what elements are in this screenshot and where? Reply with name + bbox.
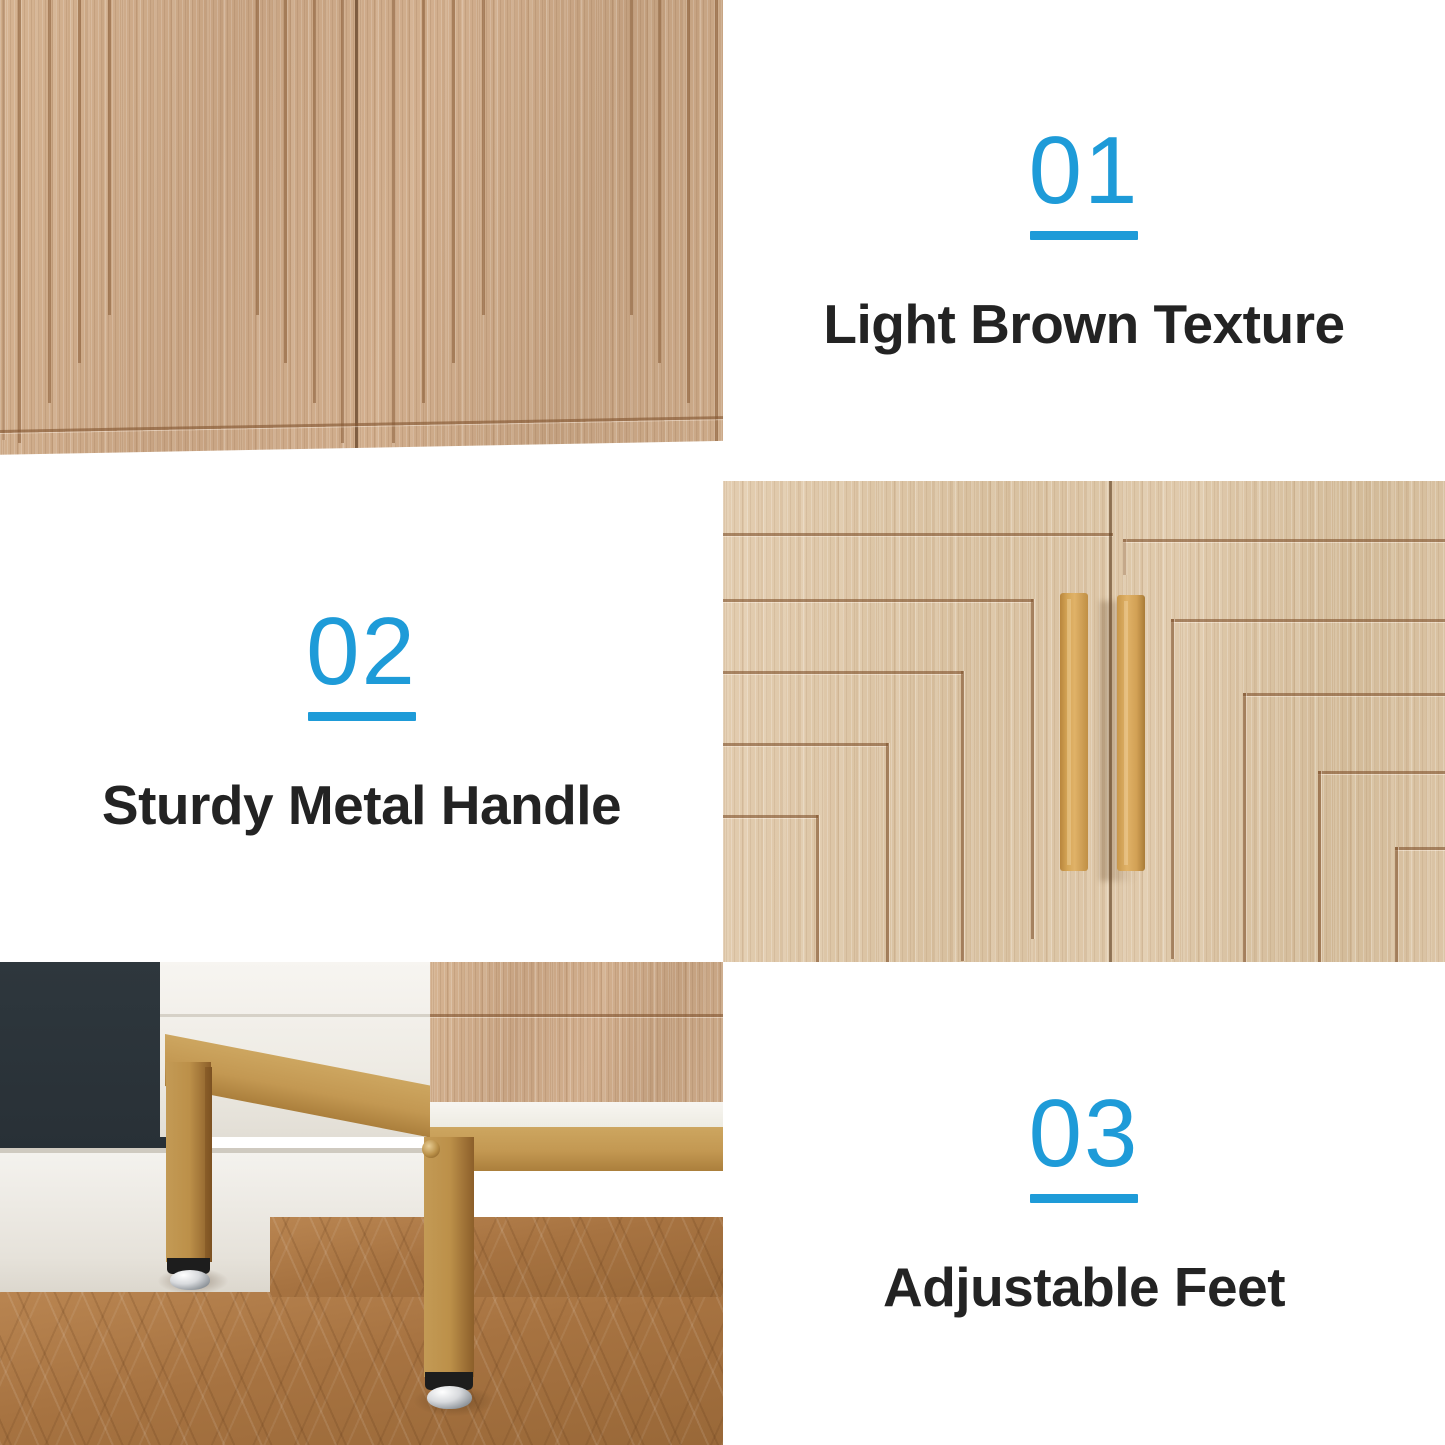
feature-title-01: Light Brown Texture [823, 292, 1344, 356]
adjustable-foot-rear[interactable] [170, 1270, 210, 1290]
feature-number-01: 01 [1029, 125, 1140, 216]
plank-line-1 [2, 0, 5, 440]
baseboard-top-edge [0, 1148, 430, 1153]
feature-number-block-03: 03 [1029, 1088, 1140, 1202]
groove-right-v4 [1318, 771, 1321, 962]
feature-photo-adjustable-feet [0, 962, 723, 1445]
adjustable-foot-front[interactable] [427, 1386, 472, 1409]
groove-right-v1 [1123, 539, 1126, 575]
feature-title-02: Sturdy Metal Handle [102, 773, 621, 837]
feature-number-underline-01 [1030, 231, 1138, 240]
groove-left-h2 [723, 599, 1033, 602]
feature-number-block-02: 02 [306, 606, 417, 720]
groove-right-h1 [1123, 539, 1445, 542]
feature-text-03: 03 Adjustable Feet [723, 962, 1445, 1445]
groove-left-v2 [1031, 599, 1034, 939]
groove-right-h3 [1243, 693, 1445, 696]
feature-number-underline-02 [308, 712, 416, 721]
door-center-seam [355, 0, 358, 455]
groove-left-v4 [886, 743, 889, 962]
groove-left-v3 [961, 671, 964, 961]
gold-handle-left[interactable] [1060, 593, 1088, 871]
groove-left-h4 [723, 743, 888, 746]
gold-leg-rear-shade [205, 1067, 212, 1262]
feature-title-03: Adjustable Feet [883, 1255, 1285, 1319]
door-groove-ring-core-left [108, 0, 259, 315]
groove-right-v5 [1395, 847, 1398, 962]
groove-right-v2 [1171, 619, 1174, 959]
gold-leg-front [424, 1137, 474, 1377]
feature-infographic: 01 Light Brown Texture 02 Sturdy Metal H… [0, 0, 1445, 1445]
groove-right-h5 [1395, 847, 1445, 850]
feature-text-02: 02 Sturdy Metal Handle [0, 481, 723, 962]
feature-photo-light-brown-texture [0, 0, 723, 481]
groove-left-h3 [723, 671, 963, 674]
groove-right-h2 [1171, 619, 1445, 622]
groove-left-h1 [723, 533, 1113, 536]
cabinet-wood-door [430, 962, 723, 1102]
navy-wall [0, 962, 175, 1157]
groove-right-v3 [1243, 693, 1246, 962]
groove-right-h4 [1318, 771, 1445, 774]
feature-number-block-01: 01 [1029, 125, 1140, 239]
feature-number-03: 03 [1029, 1088, 1140, 1179]
groove-left-v5 [816, 815, 819, 962]
leg-screw [422, 1140, 440, 1158]
handle-left-highlight [1067, 599, 1071, 865]
herringbone-floor-upper [270, 1217, 723, 1297]
feature-number-02: 02 [306, 606, 417, 697]
feature-number-underline-03 [1030, 1194, 1138, 1203]
door-groove-ring-core-right [482, 0, 633, 315]
herringbone-floor [0, 1292, 723, 1445]
feature-photo-sturdy-metal-handle [723, 481, 1445, 962]
gold-handle-right[interactable] [1117, 595, 1145, 871]
groove-left-h5 [723, 815, 818, 818]
wood-grain-surface [430, 962, 723, 1102]
feature-text-01: 01 Light Brown Texture [723, 0, 1445, 481]
door-groove-line [430, 1014, 723, 1017]
handle-right-highlight [1124, 601, 1128, 865]
